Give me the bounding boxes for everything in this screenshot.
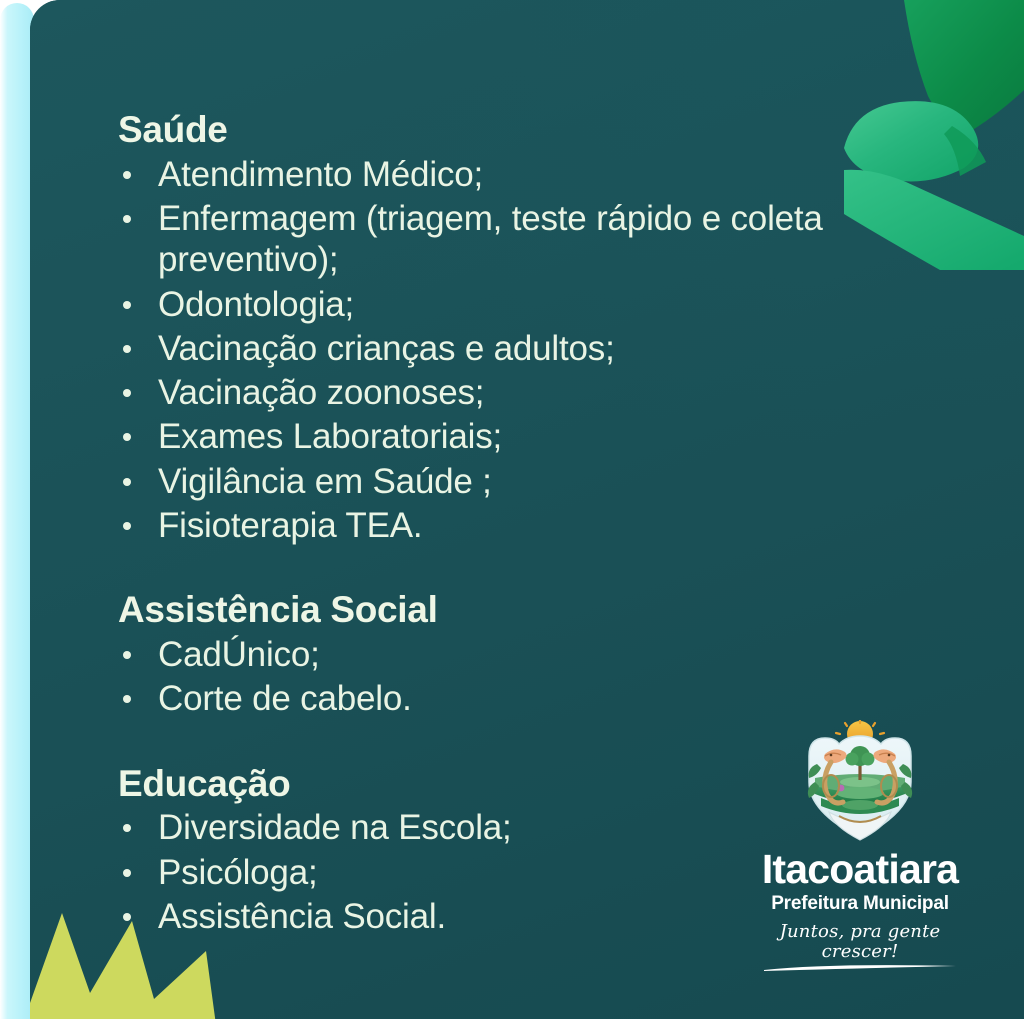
bullet-dot-icon — [123, 695, 131, 703]
section-saude: Saúde Atendimento Médico; Enfermagem (tr… — [118, 108, 908, 546]
bullet-dot-icon — [123, 824, 131, 832]
logo-city-name: Itacoatiara — [742, 849, 978, 890]
poster-canvas: Saúde Atendimento Médico; Enfermagem (tr… — [0, 0, 1024, 1019]
logo-subtitle: Prefeitura Municipal — [742, 894, 978, 915]
water-lily-pads — [836, 777, 884, 810]
list-item: Corte de cabelo. — [118, 678, 908, 719]
list-item: Odontologia; — [118, 284, 908, 325]
main-panel: Saúde Atendimento Médico; Enfermagem (tr… — [30, 0, 1024, 1019]
bullet-dot-icon — [123, 913, 131, 921]
bullet-dot-icon — [123, 869, 131, 877]
bullet-dot-icon — [123, 389, 131, 397]
list-item-label: Vigilância em Saúde ; — [158, 462, 492, 501]
list-item-label: Atendimento Médico; — [158, 155, 483, 194]
list-item-label: Exames Laboratoriais; — [158, 417, 502, 456]
list-item-label: Vacinação crianças e adultos; — [158, 329, 615, 368]
list-item-label: Diversidade na Escola; — [158, 808, 512, 847]
prefeitura-logo-lockup: Itacoatiara Prefeitura Municipal Juntos,… — [742, 720, 978, 973]
bullet-dot-icon — [123, 171, 131, 179]
list-assistencia-social: CadÚnico; Corte de cabelo. — [118, 634, 908, 720]
bullet-dot-icon — [123, 478, 131, 486]
tagline-underline-swoosh — [760, 963, 960, 973]
section-title-assistencia-social: Assistência Social — [118, 588, 908, 632]
section-assistencia-social: Assistência Social CadÚnico; Corte de ca… — [118, 588, 908, 719]
itacoatiara-coat-of-arms-icon — [795, 720, 925, 845]
list-item: Vacinação crianças e adultos; — [118, 328, 908, 369]
list-item: Exames Laboratoriais; — [118, 416, 908, 457]
logo-tagline: Juntos, pra gente crescer! — [742, 922, 978, 962]
list-item-label: Odontologia; — [158, 285, 354, 324]
list-item-label: Assistência Social. — [158, 897, 446, 936]
list-saude: Atendimento Médico; Enfermagem (triagem,… — [118, 154, 908, 547]
list-item: Atendimento Médico; — [118, 154, 908, 195]
list-item: Fisioterapia TEA. — [118, 505, 908, 546]
list-item: Enfermagem (triagem, teste rápido e cole… — [118, 198, 908, 281]
left-cyan-edge-strip — [0, 3, 34, 1019]
list-item: CadÚnico; — [118, 634, 908, 675]
list-item-label: Psicóloga; — [158, 853, 317, 892]
list-item: Vacinação zoonoses; — [118, 372, 908, 413]
list-item-label: Fisioterapia TEA. — [158, 506, 422, 545]
bullet-dot-icon — [123, 522, 131, 530]
bullet-dot-icon — [123, 433, 131, 441]
bullet-dot-icon — [123, 651, 131, 659]
bullet-dot-icon — [123, 345, 131, 353]
list-item-label: Corte de cabelo. — [158, 679, 412, 718]
list-item-label: CadÚnico; — [158, 635, 320, 674]
section-title-saude: Saúde — [118, 108, 908, 152]
bullet-dot-icon — [123, 215, 131, 223]
bullet-dot-icon — [123, 301, 131, 309]
list-item: Vigilância em Saúde ; — [118, 461, 908, 502]
list-item-label: Vacinação zoonoses; — [158, 373, 484, 412]
list-item-label: Enfermagem (triagem, teste rápido e cole… — [158, 199, 823, 279]
